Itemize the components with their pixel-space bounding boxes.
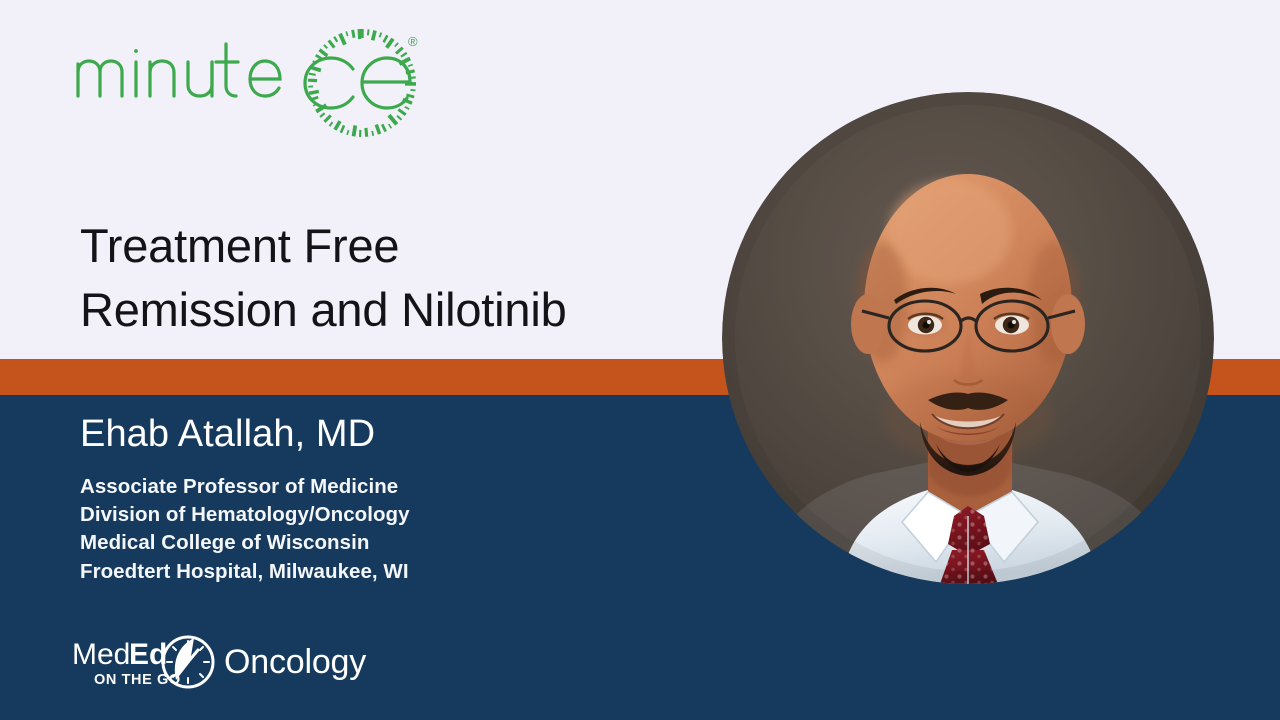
affiliation-line: Division of Hematology/Oncology xyxy=(80,501,410,529)
logo-word-oncology: Oncology xyxy=(224,643,366,681)
speaker-portrait xyxy=(722,92,1214,584)
speaker-affiliations: Associate Professor of Medicine Division… xyxy=(80,473,410,586)
affiliation-line: Froedtert Hospital, Milwaukee, WI xyxy=(80,558,410,586)
meded-on-the-go-oncology-logo: Med Ed ON THE GO xyxy=(72,632,392,694)
speaker-name: Ehab Atallah, MD xyxy=(80,411,375,457)
logo-word-med: Med xyxy=(72,638,130,671)
logo-word-ed: Ed xyxy=(129,638,167,671)
affiliation-line: Medical College of Wisconsin xyxy=(80,529,410,557)
title-slide: ® Treatment Free Remission and Nilotinib… xyxy=(0,0,1280,720)
registered-mark-icon: ® xyxy=(408,34,418,49)
title-line-2: Remission and Nilotinib xyxy=(80,278,720,342)
title-line-1: Treatment Free xyxy=(80,214,720,278)
affiliation-line: Associate Professor of Medicine xyxy=(80,473,410,501)
clock-icon xyxy=(163,637,213,687)
minute-ce-logo: ® xyxy=(70,24,430,148)
page-title: Treatment Free Remission and Nilotinib xyxy=(80,214,720,342)
